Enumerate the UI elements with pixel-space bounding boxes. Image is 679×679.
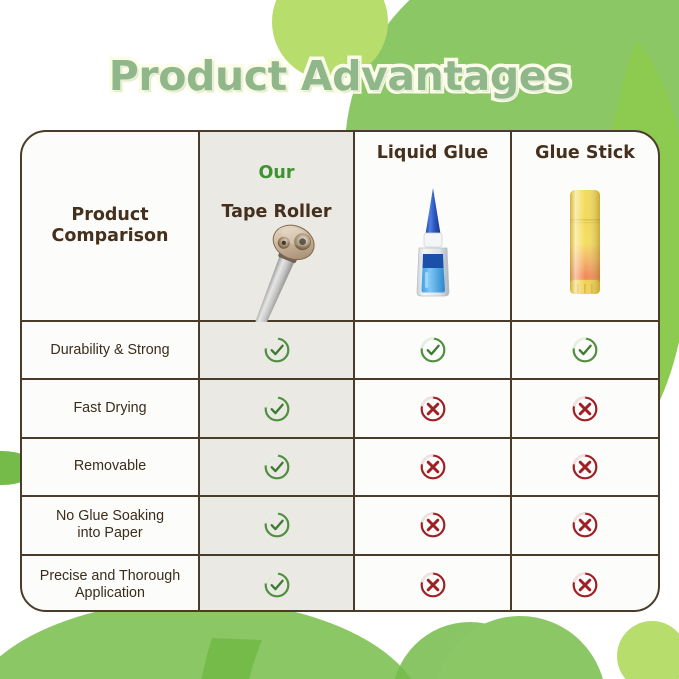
cell-stick: [512, 380, 658, 436]
cell-stick: [512, 497, 658, 553]
cross-circle-icon: [570, 394, 600, 424]
cross-circle-icon: [570, 452, 600, 482]
cell-stick: [512, 322, 658, 378]
cell-ours: [200, 439, 355, 495]
check-circle-icon: [262, 510, 292, 540]
page-title: Product Advantages: [109, 52, 570, 100]
row-label-cell: No Glue Soaking into Paper: [22, 497, 200, 553]
cell-stick: [512, 556, 658, 612]
column-header-ours: Our Tape Roller: [200, 132, 355, 320]
glue-stick-label: Glue Stick: [535, 144, 635, 164]
cross-circle-icon: [418, 570, 448, 600]
cross-circle-icon: [418, 452, 448, 482]
row-label-cell: Fast Drying: [22, 380, 200, 436]
table-row: No Glue Soaking into Paper: [22, 497, 658, 555]
check-circle-icon: [418, 335, 448, 365]
row-label-cell: Precise and Thorough Application: [22, 556, 200, 612]
table-header-row: Product Comparison Our Tape Roller: [22, 132, 658, 322]
table-row: Removable: [22, 439, 658, 497]
check-circle-icon: [262, 452, 292, 482]
row-label: Durability & Strong: [44, 342, 175, 359]
column-header-liquid-glue: Liquid Glue: [355, 132, 512, 320]
table-body: Durability & Strong F: [22, 322, 658, 612]
row-label: Removable: [68, 458, 152, 475]
comparison-title: Product Comparison: [52, 205, 169, 248]
blob-bottom-mid-dark: [392, 622, 548, 679]
row-label: Precise and Thorough Application: [34, 568, 186, 602]
check-circle-icon: [262, 335, 292, 365]
cell-liquid: [355, 380, 512, 436]
glue-stick-image: [512, 164, 658, 320]
blob-bottom-right-lime: [617, 621, 679, 679]
row-label-cell: Removable: [22, 439, 200, 495]
column-header-label-ours: Our Tape Roller: [222, 144, 332, 222]
blob-bottom-mid: [434, 616, 606, 679]
blob-bottom-arc: [194, 638, 262, 679]
cross-circle-icon: [418, 394, 448, 424]
liquid-glue-label: Liquid Glue: [377, 144, 488, 164]
liquid-glue-bottle-image: [355, 164, 510, 320]
product-comparison-table: Product Comparison Our Tape Roller: [20, 130, 660, 612]
check-circle-icon: [570, 335, 600, 365]
cell-ours: [200, 497, 355, 553]
cross-circle-icon: [570, 570, 600, 600]
cell-liquid: [355, 556, 512, 612]
cross-circle-icon: [570, 510, 600, 540]
cell-liquid: [355, 439, 512, 495]
check-circle-icon: [262, 394, 292, 424]
table-row: Precise and Thorough Application: [22, 556, 658, 612]
table-row: Durability & Strong: [22, 322, 658, 380]
ours-accent-word: Our: [259, 163, 295, 183]
cell-ours: [200, 380, 355, 436]
infographic-canvas: Product Advantages Product Comparison Ou…: [0, 0, 679, 679]
cell-liquid: [355, 322, 512, 378]
cell-ours: [200, 556, 355, 612]
ours-label: Tape Roller: [222, 202, 332, 222]
page-title-container: Product Advantages: [0, 52, 679, 100]
table-corner-cell: Product Comparison: [22, 132, 200, 320]
check-circle-icon: [262, 570, 292, 600]
column-header-glue-stick: Glue Stick: [512, 132, 658, 320]
row-label-cell: Durability & Strong: [22, 322, 200, 378]
cross-circle-icon: [418, 510, 448, 540]
row-label: No Glue Soaking into Paper: [50, 508, 170, 542]
cell-liquid: [355, 497, 512, 553]
row-label: Fast Drying: [67, 400, 152, 417]
cell-ours: [200, 322, 355, 378]
cell-stick: [512, 439, 658, 495]
table-row: Fast Drying: [22, 380, 658, 438]
